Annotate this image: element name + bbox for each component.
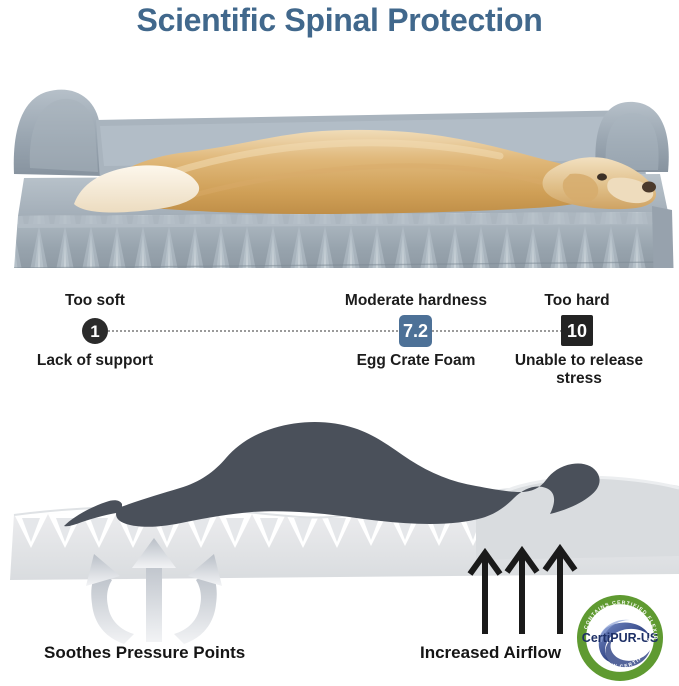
product-photo [0, 56, 679, 268]
hardness-scale: Too soft 1 Lack of support Moderate hard… [0, 288, 679, 392]
scale-label-unable-to-release-stress: Unable to release stress [506, 352, 652, 389]
scale-label-too-hard: Too hard [507, 292, 647, 310]
infographic-page: Scientific Spinal Protection [0, 0, 679, 686]
caption-increased-airflow: Increased Airflow [420, 643, 561, 663]
scale-label-egg-crate-foam: Egg Crate Foam [326, 352, 506, 370]
scale-label-moderate-hardness: Moderate hardness [316, 292, 516, 310]
scale-marker-1: 1 [82, 318, 108, 344]
scale-label-too-soft: Too soft [15, 292, 175, 310]
scale-marker-7-2: 7.2 [399, 315, 432, 347]
caption-soothes-pressure-points: Soothes Pressure Points [44, 643, 245, 663]
certipur-us-badge-graphic: CertiPUR-US CONTAINS CERTIFIED FLEXIBLE … [576, 594, 664, 682]
scale-label-lack-of-support: Lack of support [5, 352, 185, 370]
certipur-us-badge: CertiPUR-US CONTAINS CERTIFIED FLEXIBLE … [576, 594, 664, 682]
product-photo-illustration [0, 56, 679, 268]
scale-dotted-line [105, 330, 565, 332]
page-title: Scientific Spinal Protection [0, 2, 679, 39]
scale-marker-10: 10 [561, 315, 593, 346]
